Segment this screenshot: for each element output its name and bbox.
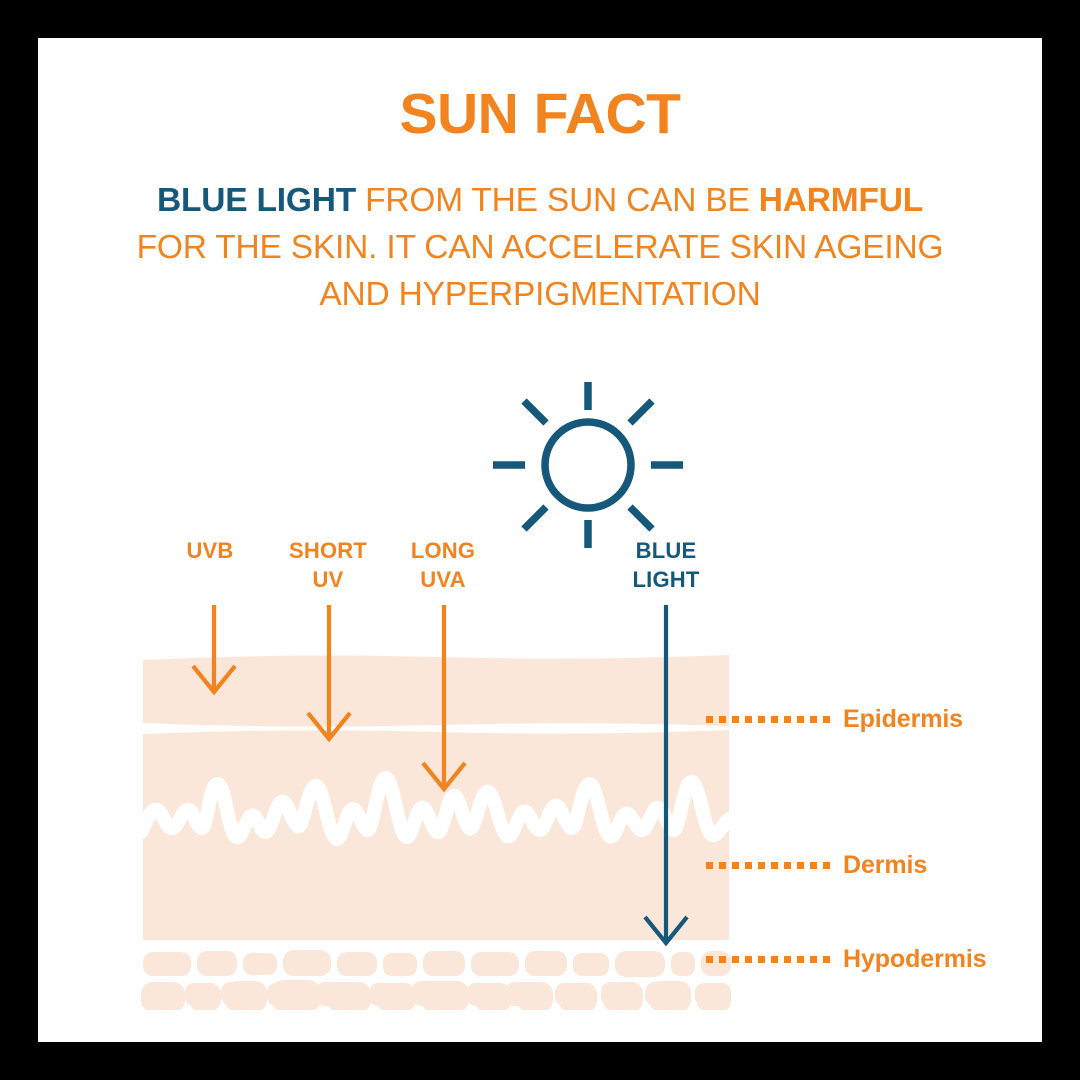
leader-dot [732, 956, 739, 963]
subtitle-text: BLUE LIGHT FROM THE SUN CAN BE HARMFUL F… [90, 178, 990, 319]
infographic-frame: SUN FACT BLUE LIGHT FROM THE SUN CAN BE … [38, 38, 1042, 1042]
subtitle-line-3: AND HYPERPIGMENTATION [90, 272, 990, 319]
leader-dot [706, 956, 713, 963]
ray-label-long-uva: LONGUVA [368, 536, 518, 594]
ray-label-blue-light-line1: BLUE [591, 536, 741, 565]
sun-ray-sw [524, 507, 546, 529]
leader-dot [706, 716, 713, 723]
layer-label-hypodermis: Hypodermis [843, 945, 986, 974]
page-title: SUN FACT [38, 86, 1042, 143]
leader-dot [797, 862, 804, 869]
skin-cross-section-diagram [141, 650, 731, 1010]
leader-dot [719, 862, 726, 869]
leader-dot [771, 956, 778, 963]
ray-label-uvb: UVB [170, 536, 250, 565]
leader-dot [810, 862, 817, 869]
ray-label-long-uva-line1: LONG [368, 536, 518, 565]
leader-dot [823, 862, 830, 869]
leader-dot [758, 862, 765, 869]
leader-dot [706, 862, 713, 869]
leader-dots-epidermis [706, 716, 830, 723]
infographic-canvas: SUN FACT BLUE LIGHT FROM THE SUN CAN BE … [0, 0, 1080, 1080]
hypodermis-row-bottom [141, 978, 731, 1018]
leader-dot [823, 716, 830, 723]
subtitle-line-1: BLUE LIGHT FROM THE SUN CAN BE HARMFUL [90, 178, 990, 225]
layer-label-epidermis: Epidermis [843, 705, 963, 734]
epidermis-layer [143, 655, 729, 727]
sun-ray-se [630, 507, 652, 529]
leader-dot [797, 716, 804, 723]
ray-label-long-uva-line2: UVA [368, 565, 518, 594]
leader-dot [719, 716, 726, 723]
leader-dot [719, 956, 726, 963]
layer-callout-dermis: Dermis [706, 854, 927, 876]
leader-dot [784, 956, 791, 963]
leader-dots-hypodermis [706, 956, 830, 963]
leader-dot [823, 956, 830, 963]
sun-ray-ne [630, 401, 652, 423]
subtitle-harmful: HARMFUL [759, 182, 923, 219]
leader-dot [745, 862, 752, 869]
leader-dot [745, 716, 752, 723]
leader-dot [758, 716, 765, 723]
leader-dot [810, 956, 817, 963]
leader-dots-dermis [706, 862, 830, 869]
leader-dot [745, 956, 752, 963]
leader-dot [732, 716, 739, 723]
layer-callout-epidermis: Epidermis [706, 708, 963, 730]
leader-dot [784, 862, 791, 869]
ray-label-blue-light: BLUELIGHT [591, 536, 741, 594]
subtitle-line-2: FOR THE SKIN. IT CAN ACCELERATE SKIN AGE… [90, 225, 990, 272]
leader-dot [810, 716, 817, 723]
leader-dot [732, 862, 739, 869]
sun-disc-icon [545, 422, 631, 508]
subtitle-blue-light: BLUE LIGHT [157, 182, 356, 219]
subtitle-mid: FROM THE SUN CAN BE [356, 182, 759, 219]
sun-icon [478, 370, 698, 560]
leader-dot [771, 716, 778, 723]
leader-dot [771, 862, 778, 869]
leader-dot [784, 716, 791, 723]
ray-label-uvb-line1: UVB [170, 536, 250, 565]
leader-dot [758, 956, 765, 963]
leader-dot [797, 956, 804, 963]
layer-label-dermis: Dermis [843, 851, 927, 880]
ray-label-blue-light-line2: LIGHT [591, 565, 741, 594]
layer-callout-hypodermis: Hypodermis [706, 948, 986, 970]
sun-ray-nw [524, 401, 546, 423]
